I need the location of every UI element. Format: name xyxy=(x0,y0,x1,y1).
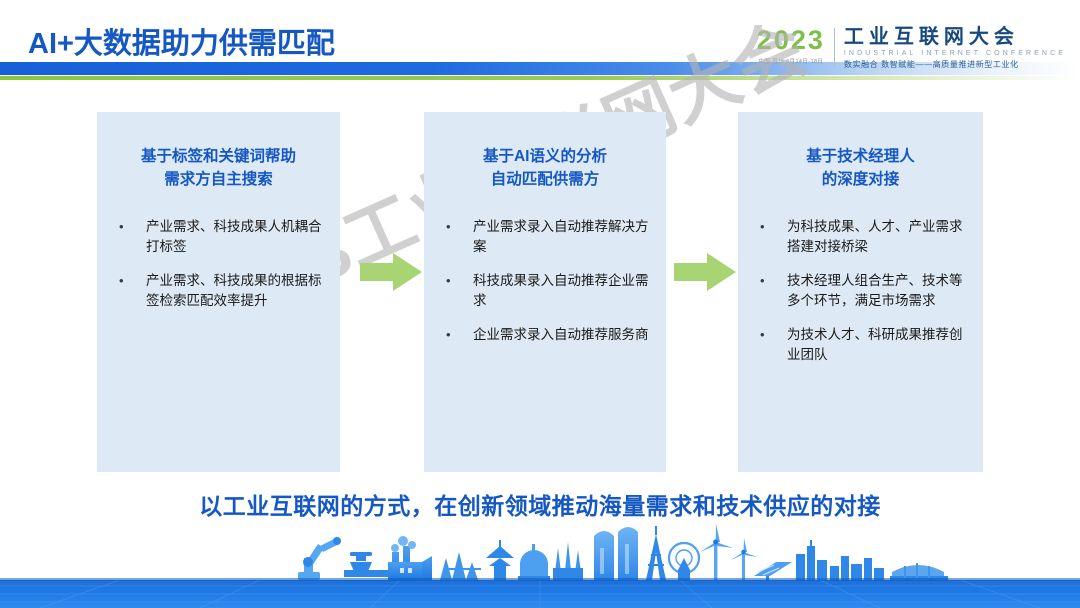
tower-icon xyxy=(646,526,666,580)
card-bullet-text: 产业需求、科技成果人机耦合打标签 xyxy=(146,217,324,257)
flow-arrow-right-icon xyxy=(360,252,422,292)
card-bullet-text: 为技术人才、科研成果推荐创业团队 xyxy=(787,325,967,365)
content-card: 基于AI语义的分析 自动匹配供需方 •产业需求录入自动推荐解决方案•科技成果录入… xyxy=(424,112,666,472)
card-bullet-text: 企业需求录入自动推荐服务商 xyxy=(473,325,649,345)
bullet-marker-icon: • xyxy=(119,271,124,291)
logo-place-date: 中国·苏州 8月14日-18日 xyxy=(757,57,825,65)
card-bullet-item: •技术经理人组合生产、技术等多个环节，满足市场需求 xyxy=(738,271,983,311)
bullet-marker-icon: • xyxy=(446,217,451,237)
card-bullet-item: •科技成果录入自动推荐企业需求 xyxy=(424,271,666,311)
card-title: 基于标签和关键词帮助 需求方自主搜索 xyxy=(97,112,340,191)
conference-logo: 2023 中国·苏州 8月14日-18日 工业互联网大会 INDUSTRIAL … xyxy=(757,26,1066,70)
header-accent-bar-green xyxy=(0,76,1080,80)
card-bullet-item: •产业需求录入自动推荐解决方案 xyxy=(424,217,666,257)
bullet-marker-icon: • xyxy=(446,271,451,291)
card-bullet-list: •产业需求录入自动推荐解决方案•科技成果录入自动推荐企业需求•企业需求录入自动推… xyxy=(424,217,666,345)
card-bullet-text: 技术经理人组合生产、技术等多个环节，满足市场需求 xyxy=(787,271,967,311)
footer-skyline-graphic xyxy=(0,518,1080,608)
bridge-icon xyxy=(890,563,948,580)
bullet-marker-icon: • xyxy=(446,325,451,345)
bullet-marker-icon: • xyxy=(760,325,765,345)
pipe-valve-icon xyxy=(344,552,390,577)
flow-arrow-right-icon xyxy=(674,252,736,292)
logo-year-block: 2023 中国·苏州 8月14日-18日 xyxy=(757,26,834,65)
slide-root: AI+大数据助力供需匹配 2023 中国·苏州 8月14日-18日 工业互联网大… xyxy=(0,0,1080,608)
card-bullet-item: •企业需求录入自动推荐服务商 xyxy=(424,325,666,345)
bullet-marker-icon: • xyxy=(119,217,124,237)
spire-building-icon xyxy=(553,542,583,580)
dome-building-icon xyxy=(518,544,550,580)
card-bullet-text: 产业需求录入自动推荐解决方案 xyxy=(473,217,650,257)
bullet-marker-icon: • xyxy=(760,271,765,291)
logo-name-block: 工业互联网大会 INDUSTRIAL INTERNET CONFERENCE 数… xyxy=(844,26,1066,70)
logo-divider xyxy=(834,28,835,67)
content-card: 基于技术经理人 的深度对接 •为科技成果、人才、产业需求搭建对接桥梁•技术经理人… xyxy=(738,112,983,472)
card-bullet-text: 为科技成果、人才、产业需求搭建对接桥梁 xyxy=(787,217,967,257)
logo-name-cn: 工业互联网大会 xyxy=(844,26,1066,48)
logo-slogan: 数实融合 数智赋能——高质量推进新型工业化 xyxy=(844,59,1066,70)
lattice-towers-icon xyxy=(440,552,481,580)
city-blocks-icon xyxy=(796,540,884,580)
card-title: 基于技术经理人 的深度对接 xyxy=(738,112,983,191)
skyline-silhouette xyxy=(298,524,948,580)
ferris-wheel-icon xyxy=(669,543,699,580)
card-bullet-text: 科技成果录入自动推荐企业需求 xyxy=(473,271,650,311)
card-bullet-item: •为技术人才、科研成果推荐创业团队 xyxy=(738,325,983,365)
card-bullet-item: •产业需求、科技成果的根据标签检索匹配效率提升 xyxy=(97,271,340,311)
page-title: AI+大数据助力供需匹配 xyxy=(28,20,335,62)
card-bullet-list: •为科技成果、人才、产业需求搭建对接桥梁•技术经理人组合生产、技术等多个环节，满… xyxy=(738,217,983,365)
robot-arm-icon xyxy=(298,537,341,580)
wind-turbine-icon xyxy=(700,524,757,580)
card-bullet-item: •产业需求、科技成果人机耦合打标签 xyxy=(97,217,340,257)
content-card: 基于标签和关键词帮助 需求方自主搜索 •产业需求、科技成果人机耦合打标签•产业需… xyxy=(97,112,340,472)
logo-name-en: INDUSTRIAL INTERNET CONFERENCE xyxy=(844,50,1066,57)
card-bullet-text: 产业需求、科技成果的根据标签检索匹配效率提升 xyxy=(146,271,324,311)
factory-icon xyxy=(388,536,432,580)
card-title: 基于AI语义的分析 自动匹配供需方 xyxy=(424,112,666,191)
pagoda-icon xyxy=(486,540,514,580)
card-bullet-list: •产业需求、科技成果人机耦合打标签•产业需求、科技成果的根据标签检索匹配效率提升 xyxy=(97,217,340,311)
conclusion-text: 以工业互联网的方式，在创新领域推动海量需求和技术供应的对接 xyxy=(0,487,1080,521)
twin-tower-icon xyxy=(594,527,638,580)
logo-year: 2023 xyxy=(757,26,825,54)
bullet-marker-icon: • xyxy=(760,217,765,237)
card-bullet-item: •为科技成果、人才、产业需求搭建对接桥梁 xyxy=(738,217,983,257)
solar-panel-icon xyxy=(754,562,792,580)
